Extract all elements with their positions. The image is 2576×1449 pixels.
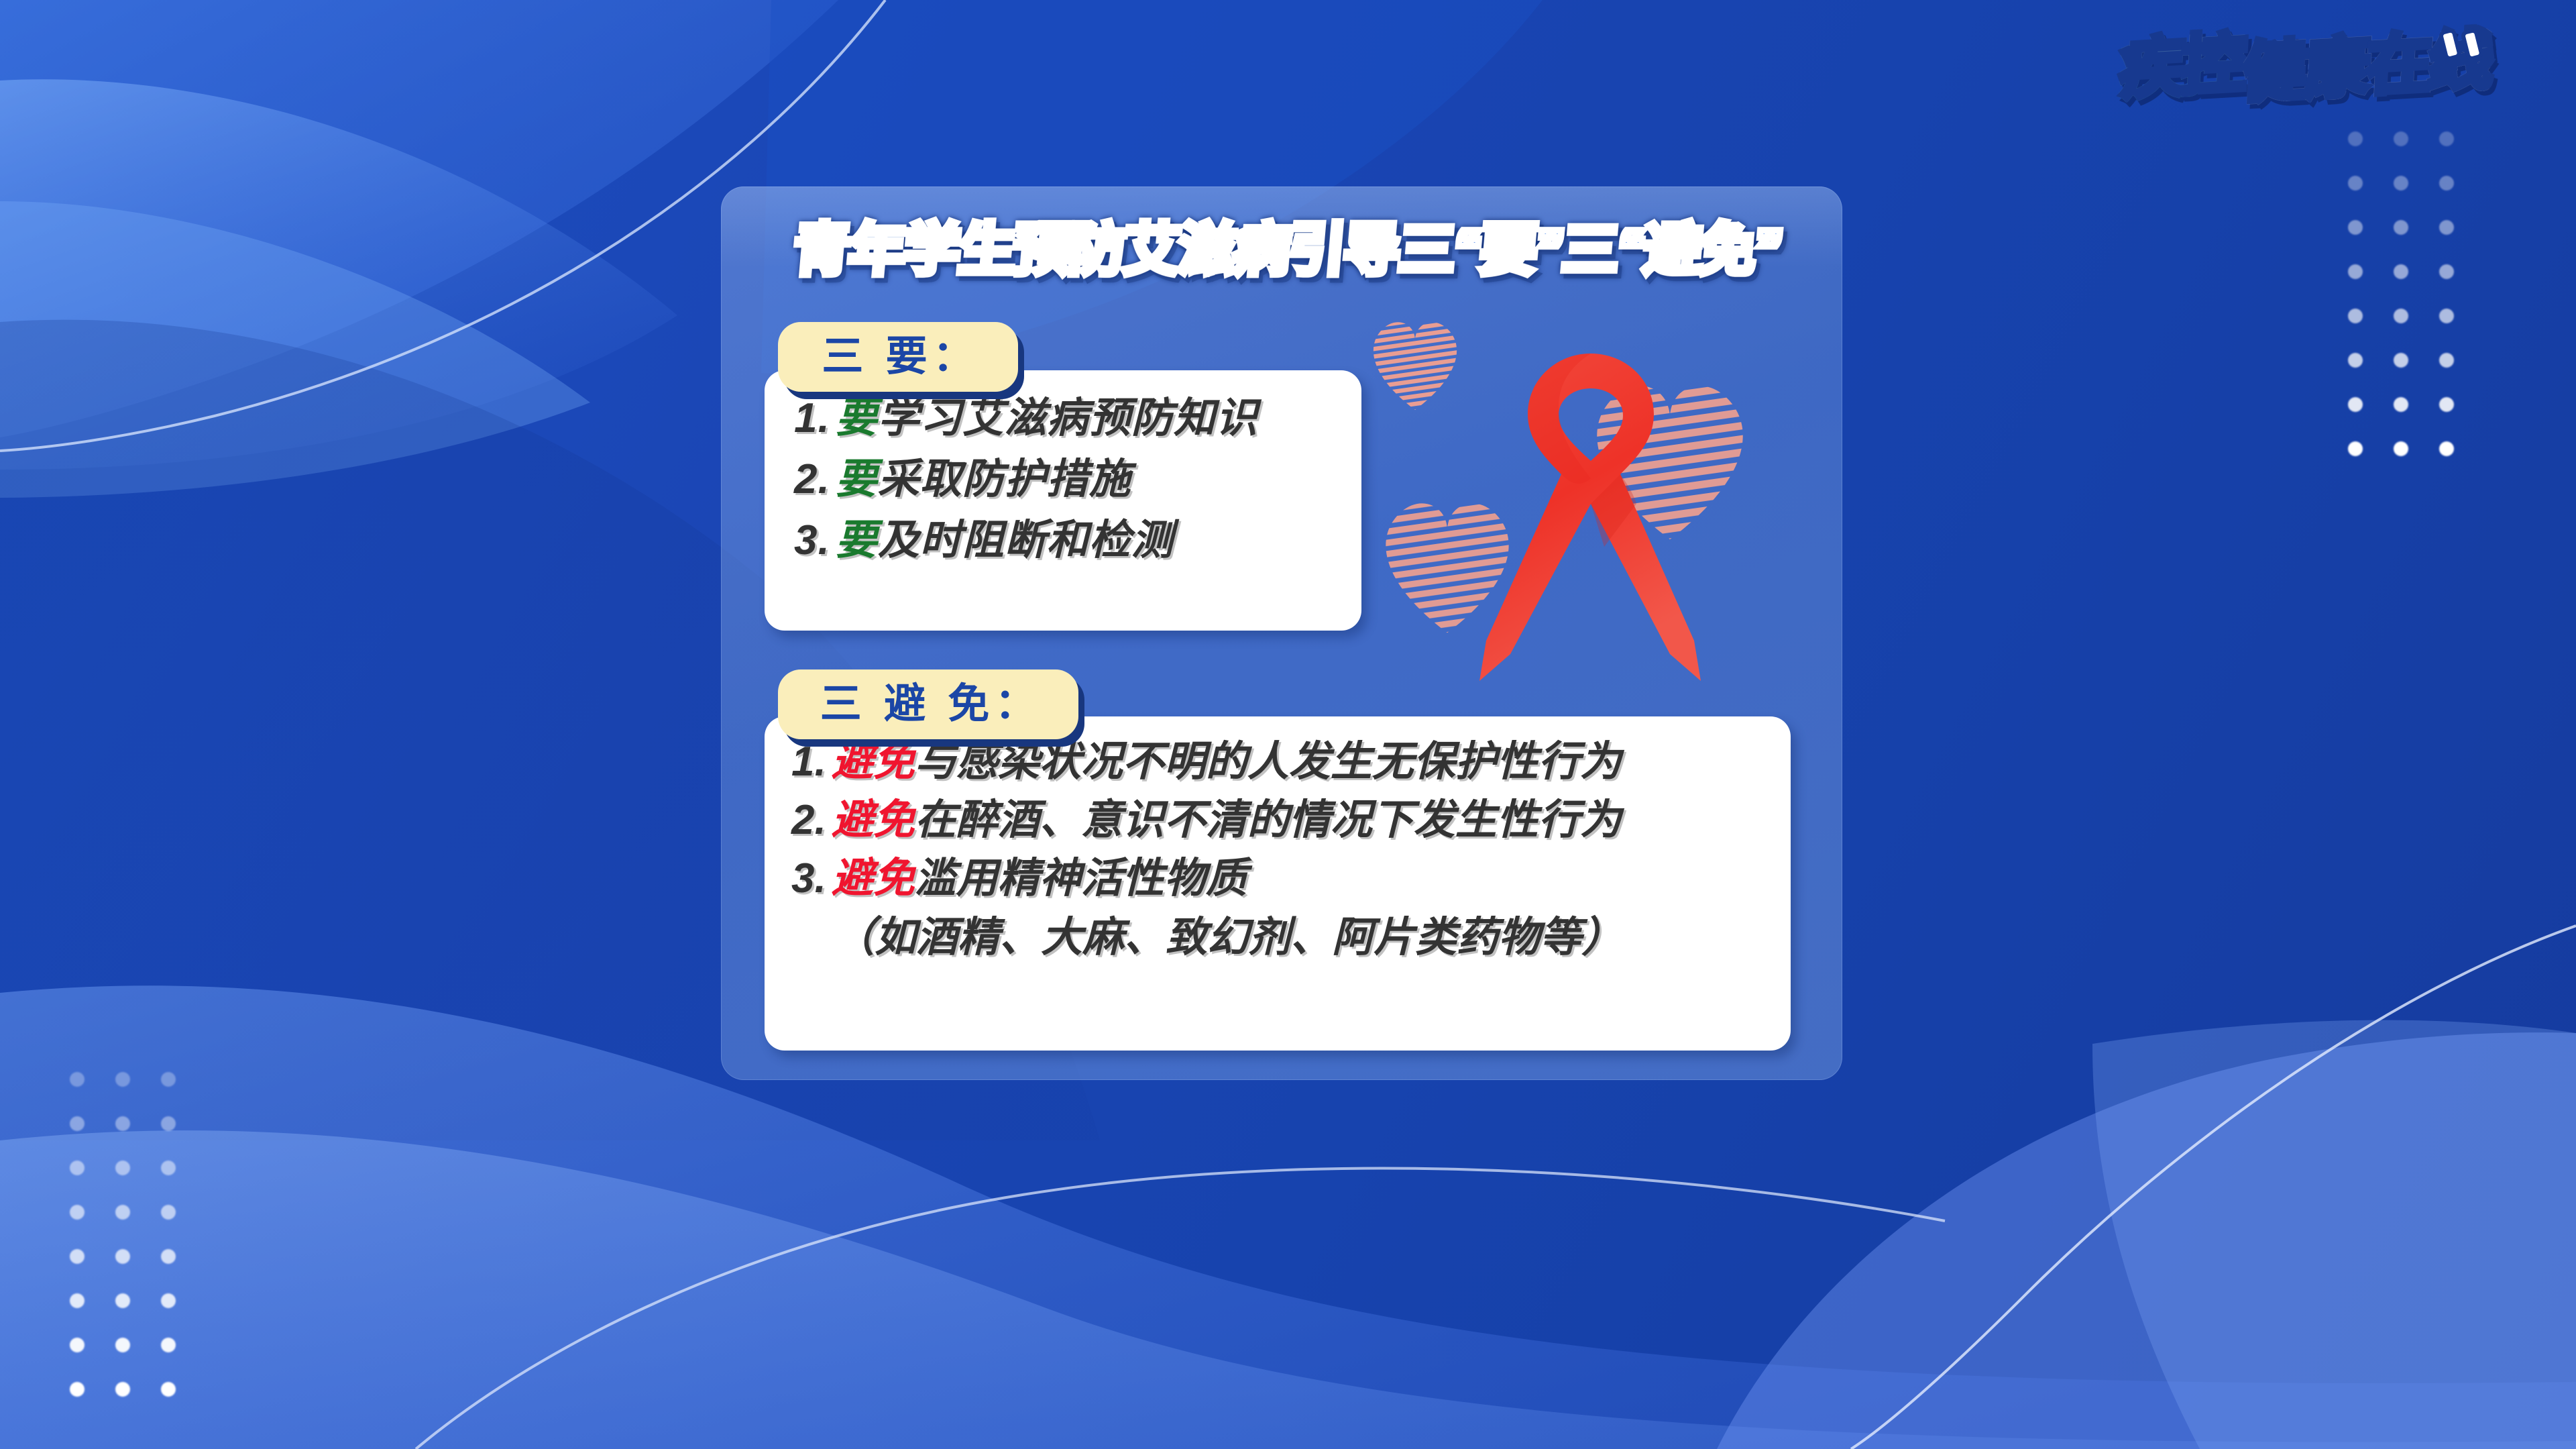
dot (161, 1382, 176, 1397)
dot (2348, 353, 2363, 368)
logo-sparkle-icon (2432, 24, 2493, 71)
dot (2439, 131, 2454, 146)
list-item-keyword: 要 (836, 395, 878, 441)
dot (115, 1249, 130, 1264)
dot (2348, 176, 2363, 191)
dot (115, 1205, 130, 1220)
dot (2348, 220, 2363, 235)
dot (70, 1205, 85, 1220)
dot-grid-right (2348, 131, 2454, 456)
dot (2439, 220, 2454, 235)
list-item: 3.要及时阻断和检测 (794, 519, 1361, 561)
poster-canvas: 疾控 健康在线 青年学生预防艾滋病引导三“要”三“避免” (0, 0, 2576, 1449)
list-item-text: 采取防护措施 (878, 456, 1131, 502)
list-item-number: 1. (791, 739, 832, 785)
list-item: 1.要学习艾滋病预防知识 (794, 397, 1361, 439)
list-three-avoids: 1.避免与感染状况不明的人发生无保护性行为 2.避免在醉酒、意识不清的情况下发生… (765, 716, 1791, 959)
list-item-text: 学习艾滋病预防知识 (878, 395, 1258, 441)
dot (2394, 441, 2408, 456)
dot (161, 1293, 176, 1308)
dot (2439, 176, 2454, 191)
badge-three-musts-label: 三 要： (822, 336, 979, 378)
badge-three-avoids: 三 避 免： (778, 669, 1078, 739)
card-three-avoids: 1.避免与感染状况不明的人发生无保护性行为 2.避免在醉酒、意识不清的情况下发生… (765, 716, 1791, 1051)
list-item-number: 1. (794, 395, 836, 441)
dot (70, 1116, 85, 1131)
dot (161, 1161, 176, 1175)
heart-shape (1386, 503, 1508, 633)
dot (2348, 309, 2363, 323)
dot (70, 1382, 85, 1397)
dot (2439, 441, 2454, 456)
dot (2394, 220, 2408, 235)
dot (2439, 309, 2454, 323)
list-item-text: 与感染状况不明的人发生无保护性行为 (915, 739, 1622, 785)
dot (2348, 441, 2363, 456)
logo-text-disease-control: 疾控 (2118, 32, 2245, 103)
dot (161, 1205, 176, 1220)
dot (115, 1338, 130, 1352)
dot (2439, 397, 2454, 412)
list-item-keyword: 避免 (832, 739, 915, 785)
dot (2394, 264, 2408, 279)
list-item-keyword: 要 (836, 517, 878, 563)
dot (161, 1116, 176, 1131)
list-three-musts: 1.要学习艾滋病预防知识 2.要采取防护措施 3.要及时阻断和检测 (765, 370, 1361, 562)
list-item: 2.要采取防护措施 (794, 458, 1361, 500)
badge-three-avoids-label: 三 避 免： (820, 684, 1042, 725)
dot (2439, 353, 2454, 368)
dot (115, 1072, 130, 1087)
aids-ribbon-illustration (1355, 305, 1824, 701)
list-item-number: 2. (794, 456, 836, 502)
dot (115, 1382, 130, 1397)
dot (70, 1293, 85, 1308)
list-item-number: 2. (791, 797, 832, 843)
heart-shape (1374, 322, 1457, 410)
badge-three-musts: 三 要： (778, 322, 1018, 392)
dot (70, 1338, 85, 1352)
dot (2439, 264, 2454, 279)
dot (70, 1072, 85, 1087)
list-item-text: 在醉酒、意识不清的情况下发生性行为 (915, 797, 1622, 843)
list-item-keyword: 避免 (832, 855, 915, 902)
list-item: 1.避免与感染状况不明的人发生无保护性行为 (791, 741, 1791, 783)
list-item: 3.避免滥用精神活性物质 (791, 857, 1791, 900)
list-item-keyword: 避免 (832, 797, 915, 843)
dot (2348, 397, 2363, 412)
dot (115, 1161, 130, 1175)
list-item-number: 3. (791, 855, 832, 902)
dot (2394, 176, 2408, 191)
dot (2394, 353, 2408, 368)
list-item-keyword: 要 (836, 456, 878, 502)
dot (2394, 131, 2408, 146)
dot (2394, 397, 2408, 412)
page-title-text: 青年学生预防艾滋病引导三“要”三“避免” (791, 221, 1783, 278)
page-title: 青年学生预防艾滋病引导三“要”三“避免” (751, 209, 1824, 290)
dot (70, 1249, 85, 1264)
dot (161, 1072, 176, 1087)
list-item-text: 及时阻断和检测 (878, 517, 1174, 563)
list-item-text: 滥用精神活性物质 (915, 855, 1247, 902)
list-item: 2.避免在醉酒、意识不清的情况下发生性行为 (791, 799, 1791, 841)
card-three-musts: 1.要学习艾滋病预防知识 2.要采取防护措施 3.要及时阻断和检测 (765, 370, 1361, 631)
list-item-number: 3. (794, 517, 836, 563)
dot (2348, 131, 2363, 146)
dot (161, 1338, 176, 1352)
dot (2394, 309, 2408, 323)
dot (70, 1161, 85, 1175)
dot (2348, 264, 2363, 279)
dot (115, 1293, 130, 1308)
dot-grid-left (70, 1072, 176, 1397)
dot (115, 1116, 130, 1131)
brand-logo: 疾控 健康在线 (2120, 35, 2490, 122)
dot (161, 1249, 176, 1264)
list-item-sub: （如酒精、大麻、致幻剂、阿片类药物等） (791, 916, 1791, 959)
